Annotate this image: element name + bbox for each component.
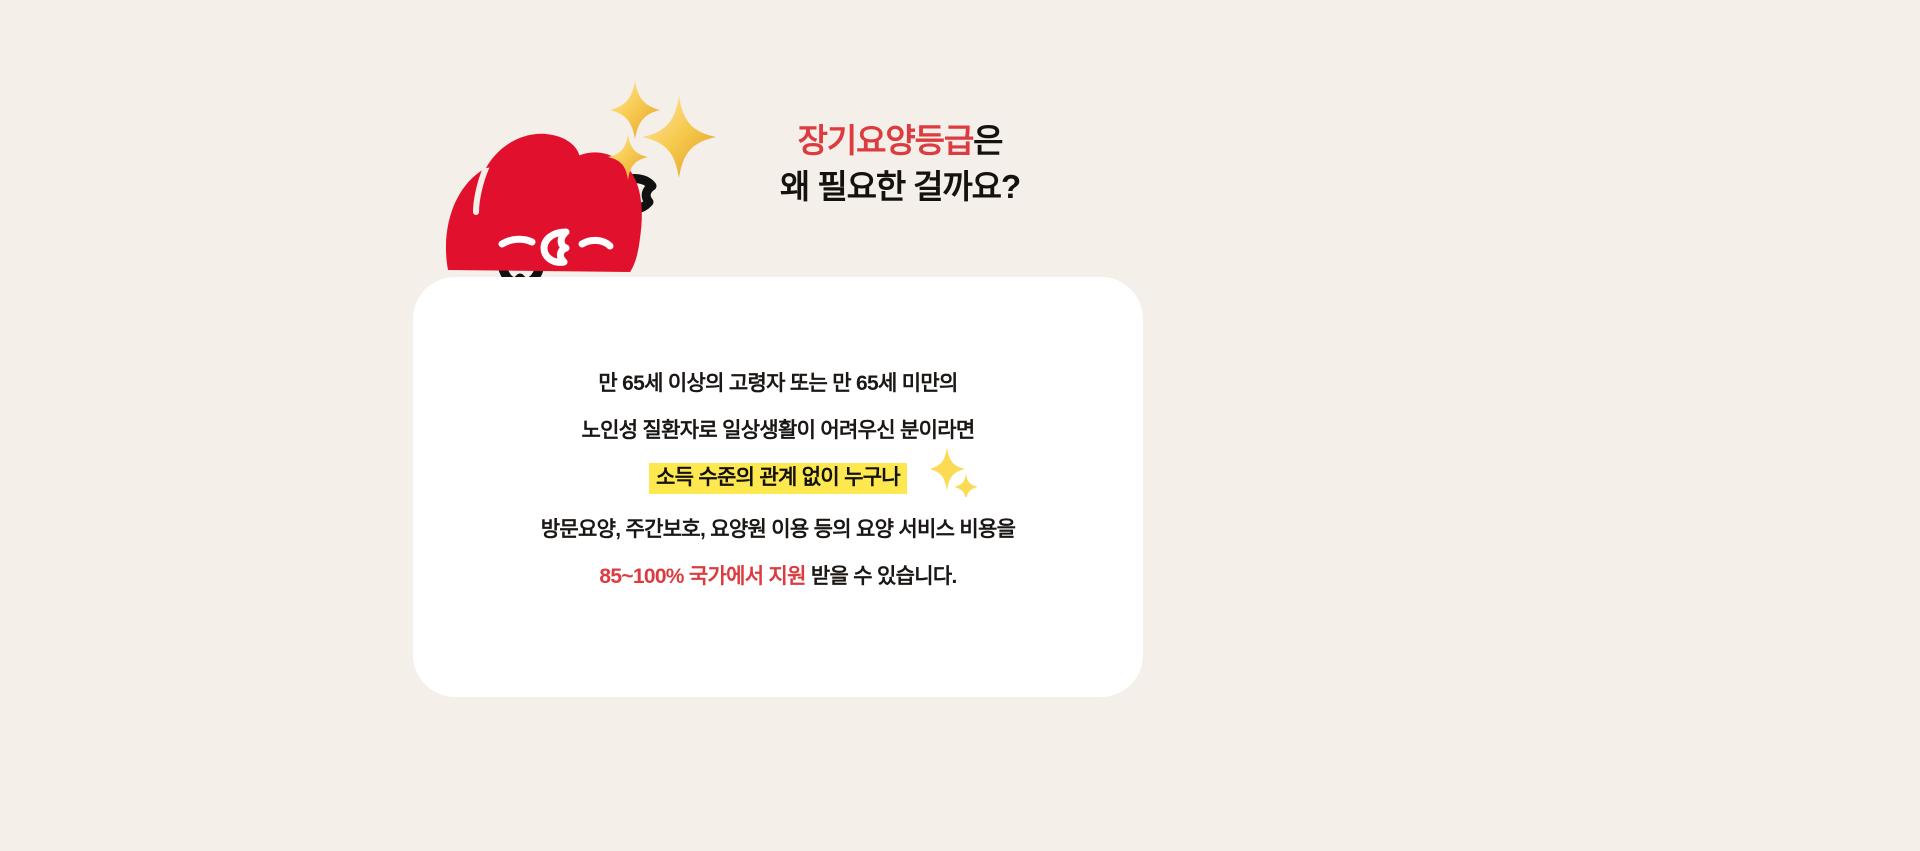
page-title: 장기요양등급은 왜 필요한 걸까요? — [700, 118, 1100, 209]
card-line-4-red: 85~100% 국가에서 지원 — [599, 565, 805, 588]
card-line-4-rest: 받을 수 있습니다. — [806, 565, 957, 588]
header-block: 장기요양등급은 왜 필요한 걸까요? — [0, 0, 1920, 300]
promo-banner: 장기요양등급은 왜 필요한 걸까요? 만 65세 이상의 고령자 또는 만 65… — [0, 0, 1920, 851]
title-line-1: 장기요양등급은 — [700, 118, 1100, 164]
info-card-body: 만 65세 이상의 고령자 또는 만 65세 미만의 노인성 질환자로 일상생활… — [413, 277, 1143, 613]
info-card: 만 65세 이상의 고령자 또는 만 65세 미만의 노인성 질환자로 일상생활… — [413, 277, 1143, 697]
card-line-3: 방문요양, 주간보호, 요양원 이용 등의 요양 서비스 비용을 — [413, 519, 1143, 540]
card-line-1: 만 65세 이상의 고령자 또는 만 65세 미만의 — [413, 373, 1143, 394]
card-line-2: 노인성 질환자로 일상생활이 어려우신 분이라면 — [413, 420, 1143, 441]
title-line-2: 왜 필요한 걸까요? — [700, 164, 1100, 210]
title-highlight: 장기요양등급 — [798, 122, 974, 159]
title-tail: 은 — [973, 122, 1002, 159]
card-line-4: 85~100% 국가에서 지원 받을 수 있습니다. — [413, 566, 1143, 587]
highlight-text: 소득 수준의 관계 없이 누구나 — [649, 463, 907, 494]
highlight-row: 소득 수준의 관계 없이 누구나 — [413, 463, 1143, 497]
sparkle-pair-icon — [931, 445, 977, 497]
